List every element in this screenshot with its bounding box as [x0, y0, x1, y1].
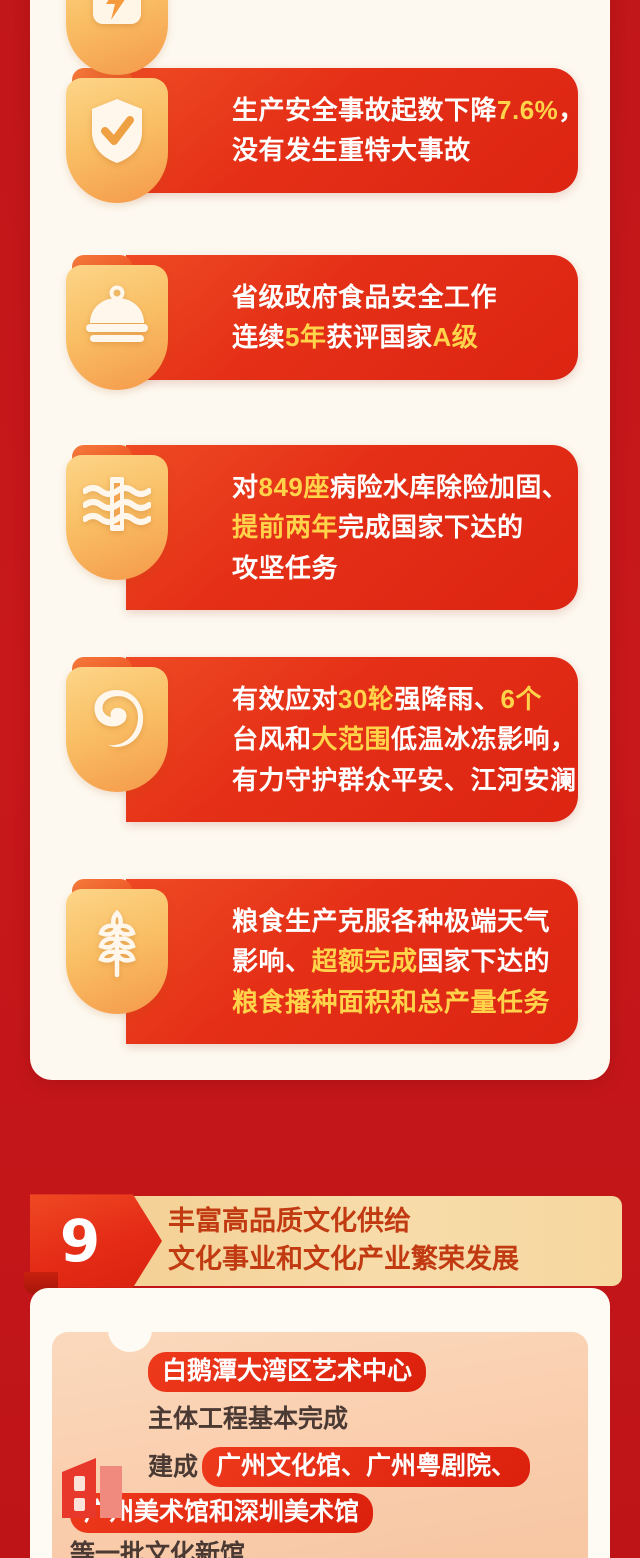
achievement-row: 粮食生产克服各种极端天气 影响、超额完成国家下达的 粮食播种面积和总产量任务 [30, 879, 610, 1069]
highlight-segment: 粮食播种面积和总产量任务 [232, 987, 550, 1017]
achievement-bubble: 省级政府食品安全工作 连续5年获评国家A级 [126, 255, 578, 380]
section9-header: 9 丰富高品质文化供给 文化事业和文化产业繁荣发展 [18, 1188, 622, 1294]
text-segment: 病险水库除险加固、 [330, 472, 569, 502]
achievement-list: 在最高用电负荷创历史新高 的情况下未发生拉闸限电 生产安全事故起数下降7.6%，… [30, 0, 610, 1069]
badge-lightning-power [66, 0, 168, 75]
wheat-grain-icon [66, 907, 168, 979]
text-segment: 对 [232, 472, 259, 502]
plain-text: 建成 [148, 1452, 198, 1483]
lightning-power-icon [66, 0, 168, 30]
achievement-line: 提前两年完成国家下达的 [232, 507, 552, 547]
achievement-line: 省级政府食品安全工作 [232, 277, 552, 317]
achievement-line: 没有发生重特大事故 [232, 130, 552, 170]
highlight-segment: 大范围 [312, 724, 392, 754]
highlight-segment: 7.6% [497, 95, 558, 125]
highlight-segment: 提前两年 [232, 512, 338, 542]
text-segment: 粮食生产克服各种极端天气 [232, 906, 550, 936]
section9-title-line2: 文化事业和文化产业繁荣发展 [168, 1240, 618, 1278]
section9-item: 白鹅潭大湾区艺术中心 [148, 1352, 608, 1392]
achievement-line: 对849座病险水库除险加固、 [232, 467, 552, 507]
achievement-row: 省级政府食品安全工作 连续5年获评国家A级 [30, 255, 610, 423]
achievement-line: 连续5年获评国家A级 [232, 317, 552, 357]
achievement-bubble: 生产安全事故起数下降7.6%， 没有发生重特大事故 [126, 68, 578, 193]
highlight-segment: 超额完成 [312, 946, 418, 976]
achievement-bubble: 对849座病险水库除险加固、 提前两年完成国家下达的 攻坚任务 [126, 445, 578, 610]
text-segment: 影响、 [232, 946, 312, 976]
achievement-bubble: 粮食生产克服各种极端天气 影响、超额完成国家下达的 粮食播种面积和总产量任务 [126, 879, 578, 1044]
achievement-row: 对849座病险水库除险加固、 提前两年完成国家下达的 攻坚任务 [30, 445, 610, 635]
badge-reservoir-dam [66, 455, 168, 580]
section9-titles: 丰富高品质文化供给 文化事业和文化产业繁荣发展 [168, 1202, 618, 1279]
achievement-row: 在最高用电负荷创历史新高 的情况下未发生拉闸限电 [30, 0, 610, 46]
achievement-line: 攻坚任务 [232, 548, 552, 588]
achievement-row: 有效应对30轮强降雨、6个 台风和大范围低温冰冻影响， 有力守护群众平安、江河安… [30, 657, 610, 857]
achievement-bubble: 有效应对30轮强降雨、6个 台风和大范围低温冰冻影响， 有力守护群众平安、江河安… [126, 657, 578, 822]
badge-food-cloche [66, 265, 168, 390]
text-segment: 连续 [232, 322, 285, 352]
highlight-pill: 白鹅潭大湾区艺术中心 [148, 1352, 426, 1392]
plain-text: 等一批文化新馆 [70, 1540, 245, 1558]
section9-item: 等一批文化新馆 [70, 1539, 608, 1558]
section9-title-line1: 丰富高品质文化供给 [168, 1202, 618, 1240]
text-segment: 完成国家下达的 [338, 512, 524, 542]
food-cloche-icon [66, 283, 168, 345]
highlight-segment: 6个 [500, 684, 541, 714]
achievement-line: 有力守护群众平安、江河安澜 [232, 760, 552, 800]
section9-number: 9 [30, 1188, 130, 1294]
text-segment: 没有发生重特大事故 [232, 135, 471, 165]
text-segment: 获评国家 [326, 322, 432, 352]
card-notch [108, 1330, 152, 1352]
achievement-line: 有效应对30轮强降雨、6个 [232, 679, 552, 719]
achievement-line: 粮食播种面积和总产量任务 [232, 982, 552, 1022]
text-segment: 有效应对 [232, 684, 338, 714]
badge-typhoon [66, 667, 168, 792]
text-segment: 台风和 [232, 724, 312, 754]
achievement-line: 生产安全事故起数下降7.6%， [232, 90, 552, 130]
achievement-line: 影响、超额完成国家下达的 [232, 941, 552, 981]
text-segment: 有力守护群众平安、江河安澜 [232, 765, 577, 795]
section9-item: 广州美术馆和深圳美术馆 [70, 1493, 608, 1533]
section9-item: 建成 广州文化馆、广州粤剧院、 [148, 1447, 608, 1487]
badge-wheat [66, 889, 168, 1014]
text-segment: 国家下达的 [418, 946, 551, 976]
achievement-line: 粮食生产克服各种极端天气 [232, 901, 552, 941]
text-segment: ， [558, 95, 585, 125]
section9-item: 主体工程基本完成 [148, 1404, 608, 1435]
text-segment: 强降雨、 [394, 684, 500, 714]
highlight-segment: 30轮 [338, 684, 394, 714]
highlight-segment: 849座 [259, 472, 330, 502]
text-segment: 低温冰冻影响， [391, 724, 577, 754]
highlight-segment: 5年 [285, 322, 326, 352]
achievement-row: 生产安全事故起数下降7.6%， 没有发生重特大事故 [30, 68, 610, 233]
museum-building-icon [56, 1450, 132, 1529]
achievement-line: 台风和大范围低温冰冻影响， [232, 719, 552, 759]
text-segment: 生产安全事故起数下降 [232, 95, 497, 125]
plain-text: 主体工程基本完成 [148, 1405, 348, 1433]
text-segment: 省级政府食品安全工作 [232, 282, 497, 312]
shield-check-icon [66, 96, 168, 166]
reservoir-dam-icon [66, 473, 168, 535]
badge-shield-check [66, 78, 168, 203]
highlight-pill: 广州文化馆、广州粤剧院、 [202, 1447, 530, 1487]
text-segment: 攻坚任务 [232, 553, 338, 583]
section9-content: 白鹅潭大湾区艺术中心 主体工程基本完成 建成 广州文化馆、广州粤剧院、 广州美术… [148, 1352, 608, 1558]
typhoon-cyclone-icon [66, 685, 168, 751]
highlight-segment: A级 [433, 322, 479, 352]
